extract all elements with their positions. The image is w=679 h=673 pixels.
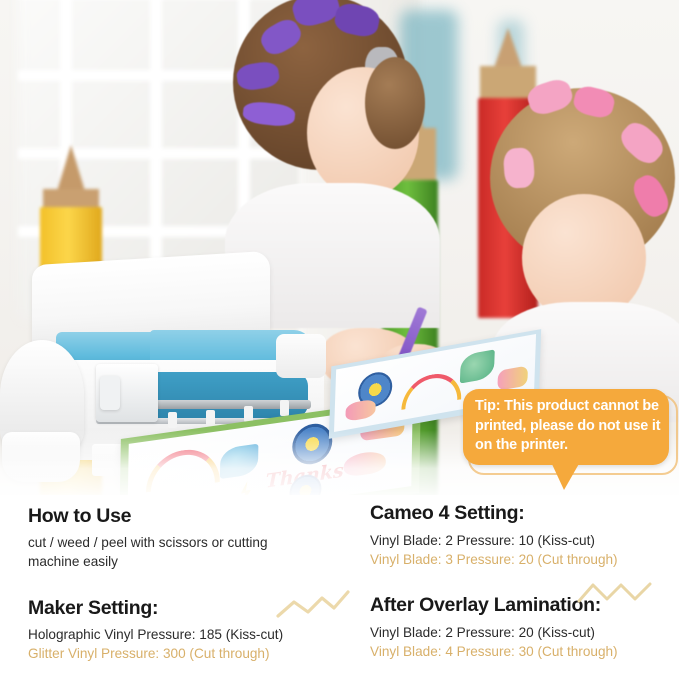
right-instruction-column: Cameo 4 Setting: Vinyl Blade: 2 Pressure…	[370, 502, 670, 661]
heading-after-overlay-lamination: After Overlay Lamination:	[370, 594, 670, 617]
lamination-line-1: Vinyl Blade: 2 Pressure: 20 (Kiss-cut)	[370, 623, 670, 642]
product-infographic: Thanks Tip: This product cannot be print…	[0, 0, 679, 673]
how-to-use-line-1: cut / weed / peel with scissors or cutti…	[28, 533, 328, 552]
cameo-setting-line-2: Vinyl Blade: 3 Pressure: 20 (Cut through…	[370, 550, 670, 569]
maker-setting-line-1: Holographic Vinyl Pressure: 185 (Kiss-cu…	[28, 625, 328, 644]
left-instruction-column: How to Use cut / weed / peel with scisso…	[28, 505, 328, 663]
heading-maker-setting: Maker Setting:	[28, 597, 328, 620]
lamination-line-2: Vinyl Blade: 4 Pressure: 30 (Cut through…	[370, 642, 670, 661]
cameo-setting-line-1: Vinyl Blade: 2 Pressure: 10 (Kiss-cut)	[370, 531, 670, 550]
tip-callout-tail	[551, 462, 580, 490]
girl-subject	[470, 70, 679, 370]
tip-callout-bubble: Tip: This product cannot be printed, ple…	[463, 389, 669, 465]
heading-how-to-use: How to Use	[28, 505, 328, 528]
heading-cameo-4-setting: Cameo 4 Setting:	[370, 502, 670, 525]
how-to-use-line-2: machine easily	[28, 552, 328, 571]
tip-callout-text: Tip: This product cannot be printed, ple…	[475, 397, 661, 456]
maker-setting-line-2: Glitter Vinyl Pressure: 300 (Cut through…	[28, 644, 328, 663]
instructions-panel: How to Use cut / weed / peel with scisso…	[0, 495, 679, 673]
